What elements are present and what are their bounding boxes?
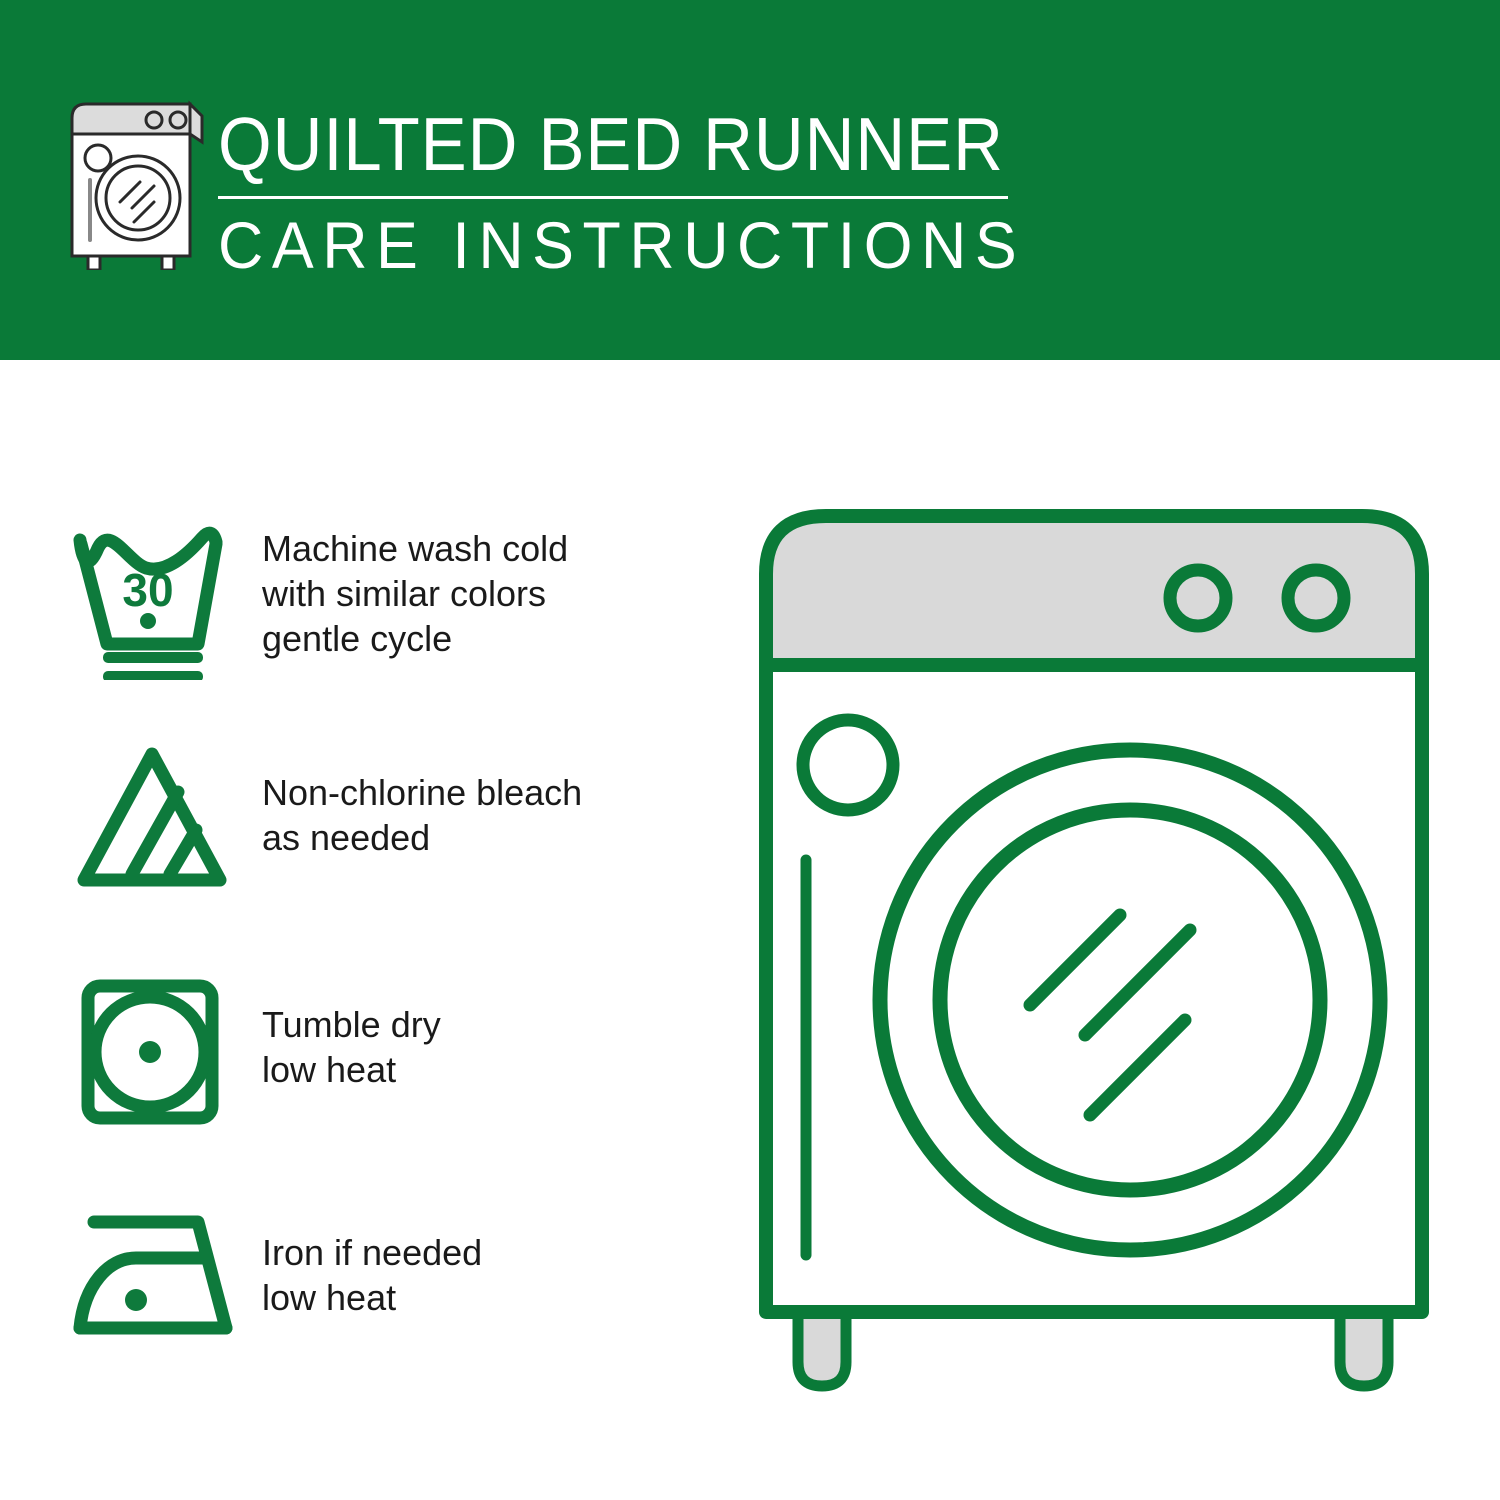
iron-icon	[70, 1200, 240, 1360]
care-instruction-text: Machine wash cold with similar colors ge…	[240, 520, 568, 661]
wash-tub-30-icon: 30	[70, 520, 240, 680]
care-instruction-text: Iron if needed low heat	[240, 1200, 482, 1320]
header-band: QUILTED BED RUNNER CARE INSTRUCTIONS	[0, 0, 1500, 360]
tumble-dry-icon	[70, 972, 240, 1132]
page-title: QUILTED BED RUNNER	[218, 104, 972, 184]
care-instruction-item: Non-chlorine bleach as needed	[70, 740, 670, 900]
care-instruction-text: Tumble dry low heat	[240, 972, 441, 1092]
care-instruction-item: 30 Machine wash cold with similar colors…	[70, 520, 670, 680]
header-text-block: QUILTED BED RUNNER CARE INSTRUCTIONS	[218, 104, 1038, 281]
wash-temperature-label: 30	[122, 564, 173, 616]
washing-machine-illustration	[740, 490, 1460, 1430]
care-instruction-item: Tumble dry low heat	[70, 972, 670, 1132]
care-instruction-text: Non-chlorine bleach as needed	[240, 740, 582, 860]
page-subtitle: CARE INSTRUCTIONS	[218, 209, 997, 281]
header-divider	[218, 196, 1008, 199]
care-instruction-item: Iron if needed low heat	[70, 1200, 670, 1360]
washing-machine-icon	[62, 98, 212, 270]
bleach-triangle-icon	[70, 740, 240, 900]
care-instruction-list: 30 Machine wash cold with similar colors…	[0, 360, 700, 1500]
